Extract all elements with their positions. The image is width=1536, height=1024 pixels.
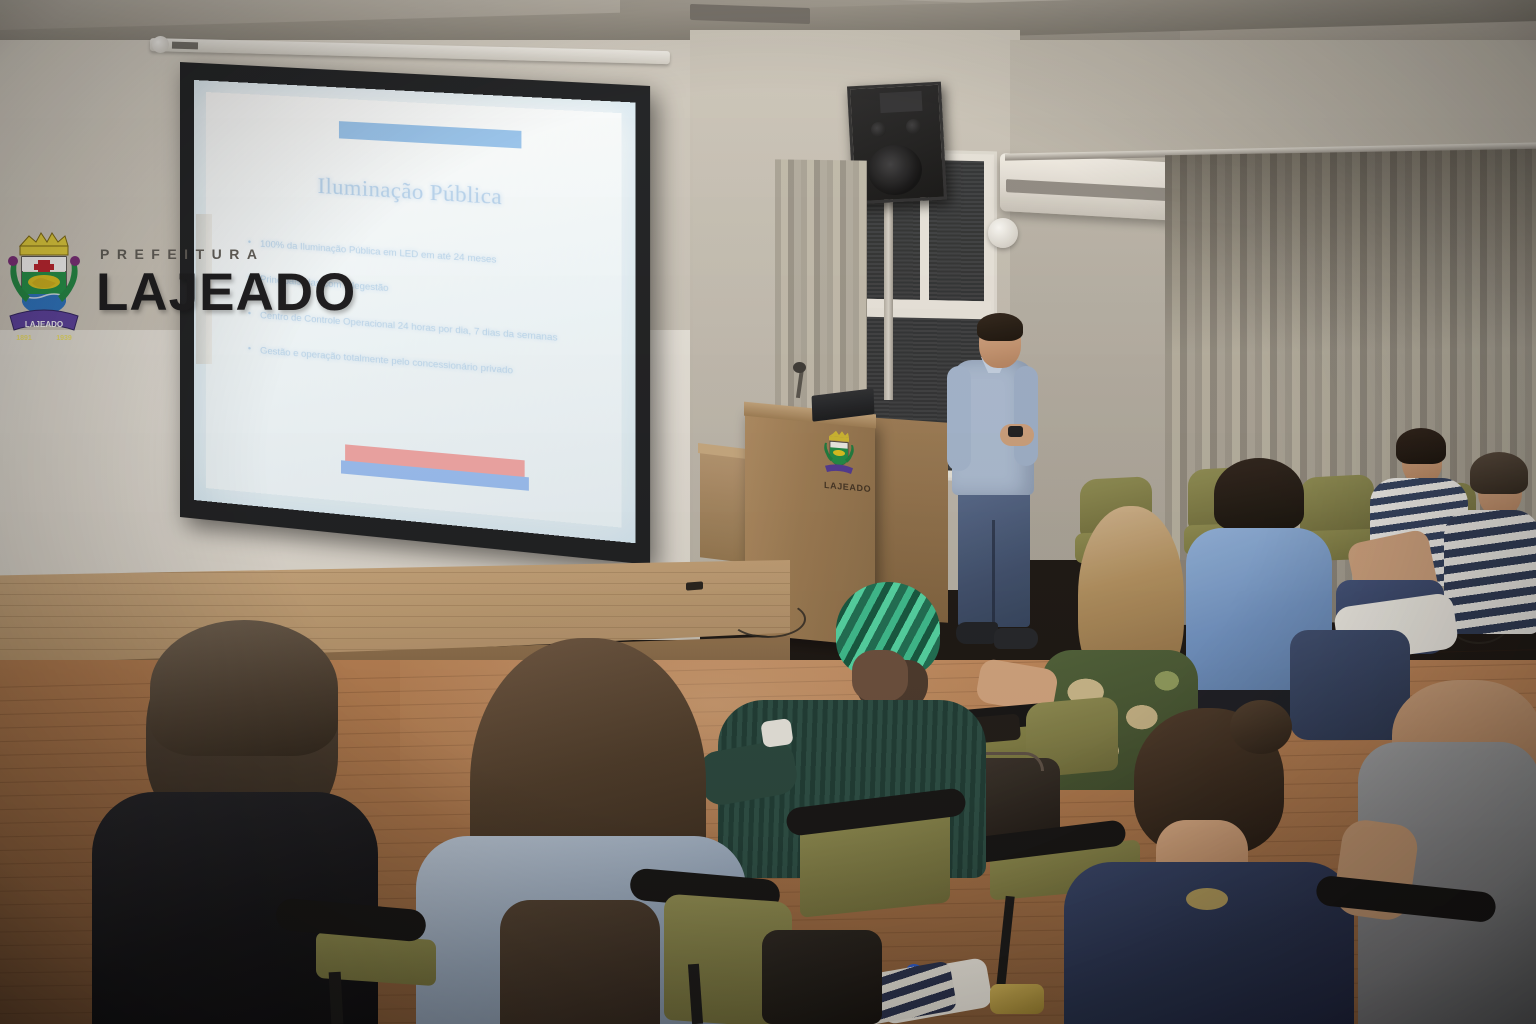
audience-hair [150,620,338,756]
lajeado-wordmark: LAJEADO [96,262,356,323]
presenter-shoe-left [956,622,998,644]
presenter-leg-seam [992,520,995,630]
slide-title: Iluminação Pública [206,166,621,218]
microphone-head-icon [793,362,806,373]
presentation-clicker[interactable] [1008,426,1023,437]
audience-hair [1470,452,1528,494]
presenter-shoe-right [994,628,1038,649]
presenter-arm-left [947,366,971,471]
slide-bullet-4-text: Gestão e operação totalmente pelo conces… [260,343,591,386]
audience-hair [1396,428,1446,464]
paper-cup[interactable] [760,718,793,748]
speaker-horn-icon [880,91,923,113]
prefeitura-label: PREFEITURA [100,246,264,262]
screen-housing-label [172,42,198,50]
stage-plank [0,627,790,628]
round-wall-lamp [988,218,1018,248]
bag-on-floor[interactable] [762,930,882,1024]
stage-plank [0,583,790,584]
presenter-arm-right [1014,366,1038,466]
floor-cable [730,600,806,638]
curtain-shadow [1165,149,1536,356]
stage-plank [0,605,790,606]
svg-text:1891: 1891 [16,335,32,342]
chair-back[interactable] [1300,474,1374,536]
audience-neck [852,650,908,702]
svg-text:1939: 1939 [56,335,72,342]
podium-coat-of-arms-icon [824,427,854,482]
svg-text:LAJEADO: LAJEADO [25,320,63,329]
hair-bun [1230,700,1292,754]
audience-striped-top [1444,510,1536,634]
stage-plank [0,616,790,617]
audience-hair-over-shoulder [500,900,660,1024]
auditorium-presentation-photo: Iluminação Pública • 100% da Iluminação … [0,0,1536,1024]
small-object-on-stage [686,581,703,590]
audience-hair [1214,458,1304,530]
slide-accent-bar-top [339,121,521,148]
bullet-glyph-icon: • [248,342,251,359]
presenter-hair [977,313,1023,341]
audience-navy-blouse [1064,862,1354,1024]
slide-bullet-4: • Gestão e operação totalmente pelo conc… [248,342,591,386]
necklace [1186,888,1228,910]
wristwatch [990,984,1044,1014]
lajeado-coat-of-arms-icon: LAJEADO 1891 1939 [8,224,80,346]
stage-plank [0,594,790,595]
audience-trousers [1290,630,1410,740]
